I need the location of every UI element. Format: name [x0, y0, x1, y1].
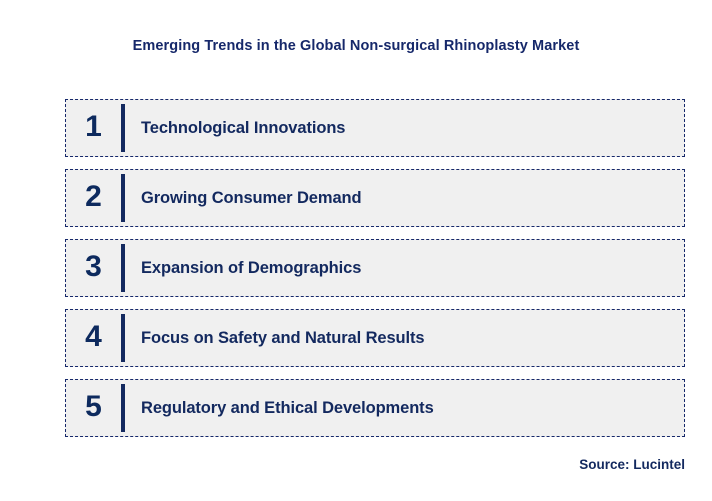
trend-label: Focus on Safety and Natural Results [141, 329, 684, 348]
vertical-divider-icon [121, 174, 125, 222]
trend-label: Technological Innovations [141, 119, 684, 138]
vertical-divider-icon [121, 384, 125, 432]
trend-label: Growing Consumer Demand [141, 189, 684, 208]
vertical-divider-icon [121, 244, 125, 292]
trend-number: 4 [66, 322, 121, 354]
trend-number: 1 [66, 112, 121, 144]
trend-list: 1 Technological Innovations 2 Growing Co… [65, 99, 685, 437]
trend-label: Regulatory and Ethical Developments [141, 399, 684, 418]
source-attribution: Source: Lucintel [579, 457, 685, 472]
trend-number: 2 [66, 182, 121, 214]
list-item: 4 Focus on Safety and Natural Results [65, 309, 685, 367]
list-item: 5 Regulatory and Ethical Developments [65, 379, 685, 437]
list-item: 3 Expansion of Demographics [65, 239, 685, 297]
infographic-canvas: Emerging Trends in the Global Non-surgic… [0, 0, 712, 501]
trend-number: 5 [66, 392, 121, 424]
trend-label: Expansion of Demographics [141, 259, 684, 278]
trend-number: 3 [66, 252, 121, 284]
vertical-divider-icon [121, 314, 125, 362]
list-item: 2 Growing Consumer Demand [65, 169, 685, 227]
list-item: 1 Technological Innovations [65, 99, 685, 157]
vertical-divider-icon [121, 104, 125, 152]
page-title: Emerging Trends in the Global Non-surgic… [0, 38, 712, 54]
